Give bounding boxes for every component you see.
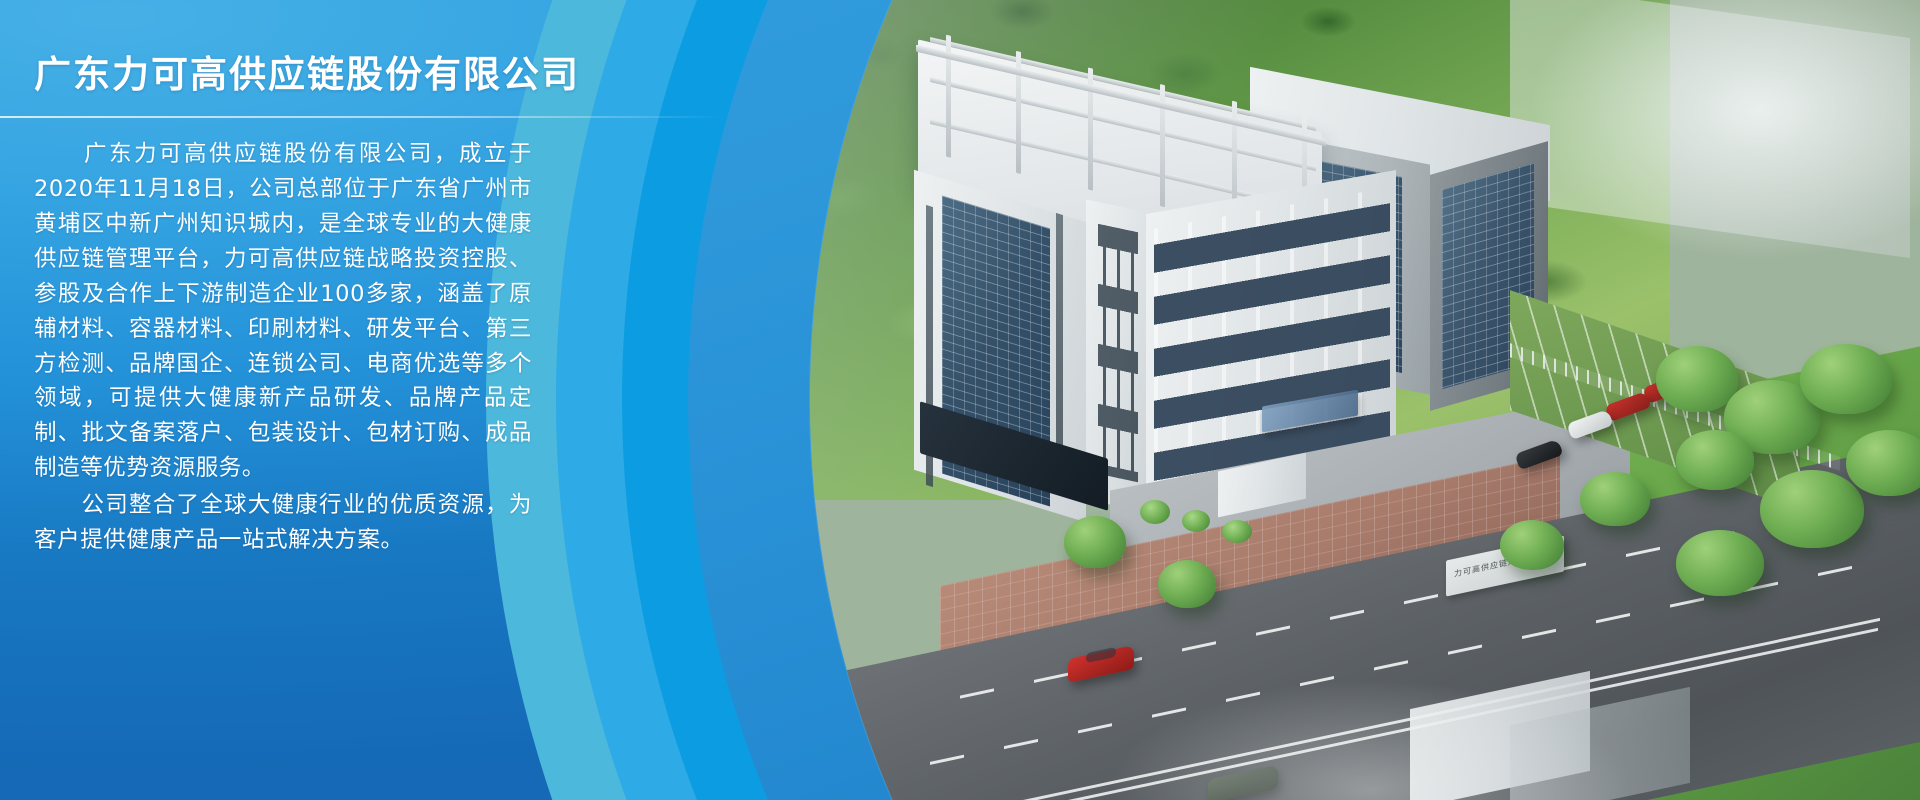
architectural-render-scene: 力可高供应链产业园 — [810, 0, 1920, 800]
lawn-tree-3 — [1800, 344, 1892, 414]
text-content-column: 广东力可高供应链股份有限公司 广东力可高供应链股份有限公司，成立于2020年11… — [0, 0, 760, 800]
lawn-tree-1 — [1656, 346, 1738, 412]
lawn-tree-7 — [1580, 472, 1650, 526]
atmospheric-haze-top — [1530, 0, 1920, 260]
description-paragraph-1: 广东力可高供应链股份有限公司，成立于2020年11月18日，公司总部位于广东省广… — [34, 137, 532, 486]
description-paragraph-2: 公司整合了全球大健康行业的优质资源，为客户提供健康产品一站式解决方案。 — [34, 488, 532, 558]
lawn-tree-4 — [1676, 430, 1754, 490]
lawn-tree-5 — [1760, 470, 1864, 548]
title-divider — [0, 116, 724, 118]
plaza-shrub-3 — [1222, 520, 1252, 543]
building-photo-disc: 力可高供应链产业园 — [810, 0, 1920, 800]
atmospheric-haze-bottom — [1110, 680, 1630, 800]
page-title: 广东力可高供应链股份有限公司 — [34, 52, 760, 98]
street-tree-2 — [1158, 560, 1216, 608]
lawn-tree-9 — [1676, 530, 1764, 596]
company-profile-banner: 力可高供应链产业园 — [0, 0, 1920, 800]
plaza-shrub-2 — [1182, 510, 1210, 532]
street-tree-1 — [1064, 516, 1126, 568]
company-description: 广东力可高供应链股份有限公司，成立于2020年11月18日，公司总部位于广东省广… — [34, 137, 532, 558]
lawn-tree-6 — [1846, 430, 1920, 496]
plaza-shrub-1 — [1140, 500, 1170, 524]
corner-pier-slot-windows — [1098, 224, 1138, 483]
building-photo: 力可高供应链产业园 — [810, 0, 1920, 800]
lawn-tree-8 — [1500, 520, 1564, 570]
